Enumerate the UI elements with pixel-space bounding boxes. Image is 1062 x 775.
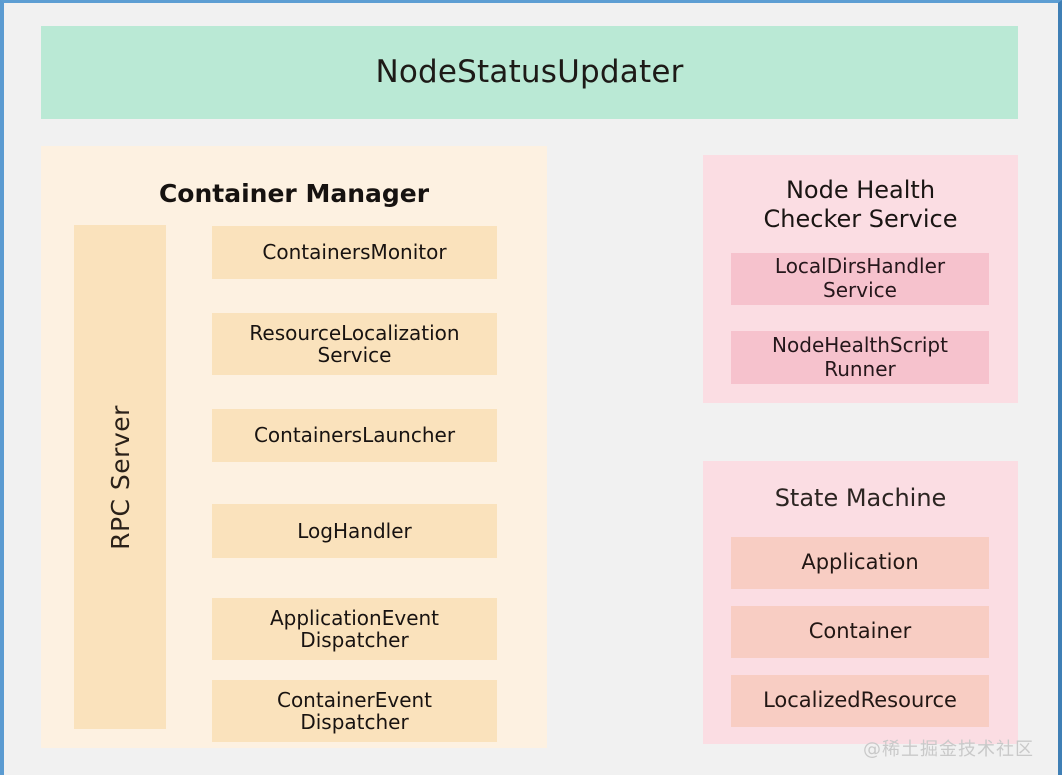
containers-launcher-box: ContainersLauncher xyxy=(212,409,497,462)
containers-monitor-box: ContainersMonitor xyxy=(212,226,497,279)
node-health-checker-service-panel: Node Health Checker Service LocalDirsHan… xyxy=(703,155,1018,403)
state-machine-title: State Machine xyxy=(703,480,1018,516)
log-handler-box: LogHandler xyxy=(212,504,497,558)
node-status-updater-header: NodeStatusUpdater xyxy=(41,26,1018,119)
diagram-canvas: NodeStatusUpdater Container Manager RPC … xyxy=(4,3,1058,775)
container-manager-panel: Container Manager RPC Server ContainersM… xyxy=(41,146,547,748)
container-event-dispatcher-box: ContainerEvent Dispatcher xyxy=(212,680,497,742)
container-manager-title: Container Manager xyxy=(41,174,547,214)
resource-localization-service-box: ResourceLocalization Service xyxy=(212,313,497,375)
application-state-box: Application xyxy=(731,537,989,589)
application-event-dispatcher-box: ApplicationEvent Dispatcher xyxy=(212,598,497,660)
node-health-script-runner-box: NodeHealthScript Runner xyxy=(731,331,989,384)
node-health-checker-service-title: Node Health Checker Service xyxy=(703,171,1018,239)
local-dirs-handler-service-box: LocalDirsHandler Service xyxy=(731,253,989,305)
diagram-screen: NodeStatusUpdater Container Manager RPC … xyxy=(0,0,1062,775)
watermark: @稀土掘金技术社区 xyxy=(863,735,1034,761)
state-machine-panel: State Machine Application Container Loca… xyxy=(703,461,1018,744)
rpc-server-label: RPC Server xyxy=(106,405,135,550)
container-state-box: Container xyxy=(731,606,989,658)
localized-resource-state-box: LocalizedResource xyxy=(731,675,989,727)
rpc-server-column: RPC Server xyxy=(74,225,166,729)
